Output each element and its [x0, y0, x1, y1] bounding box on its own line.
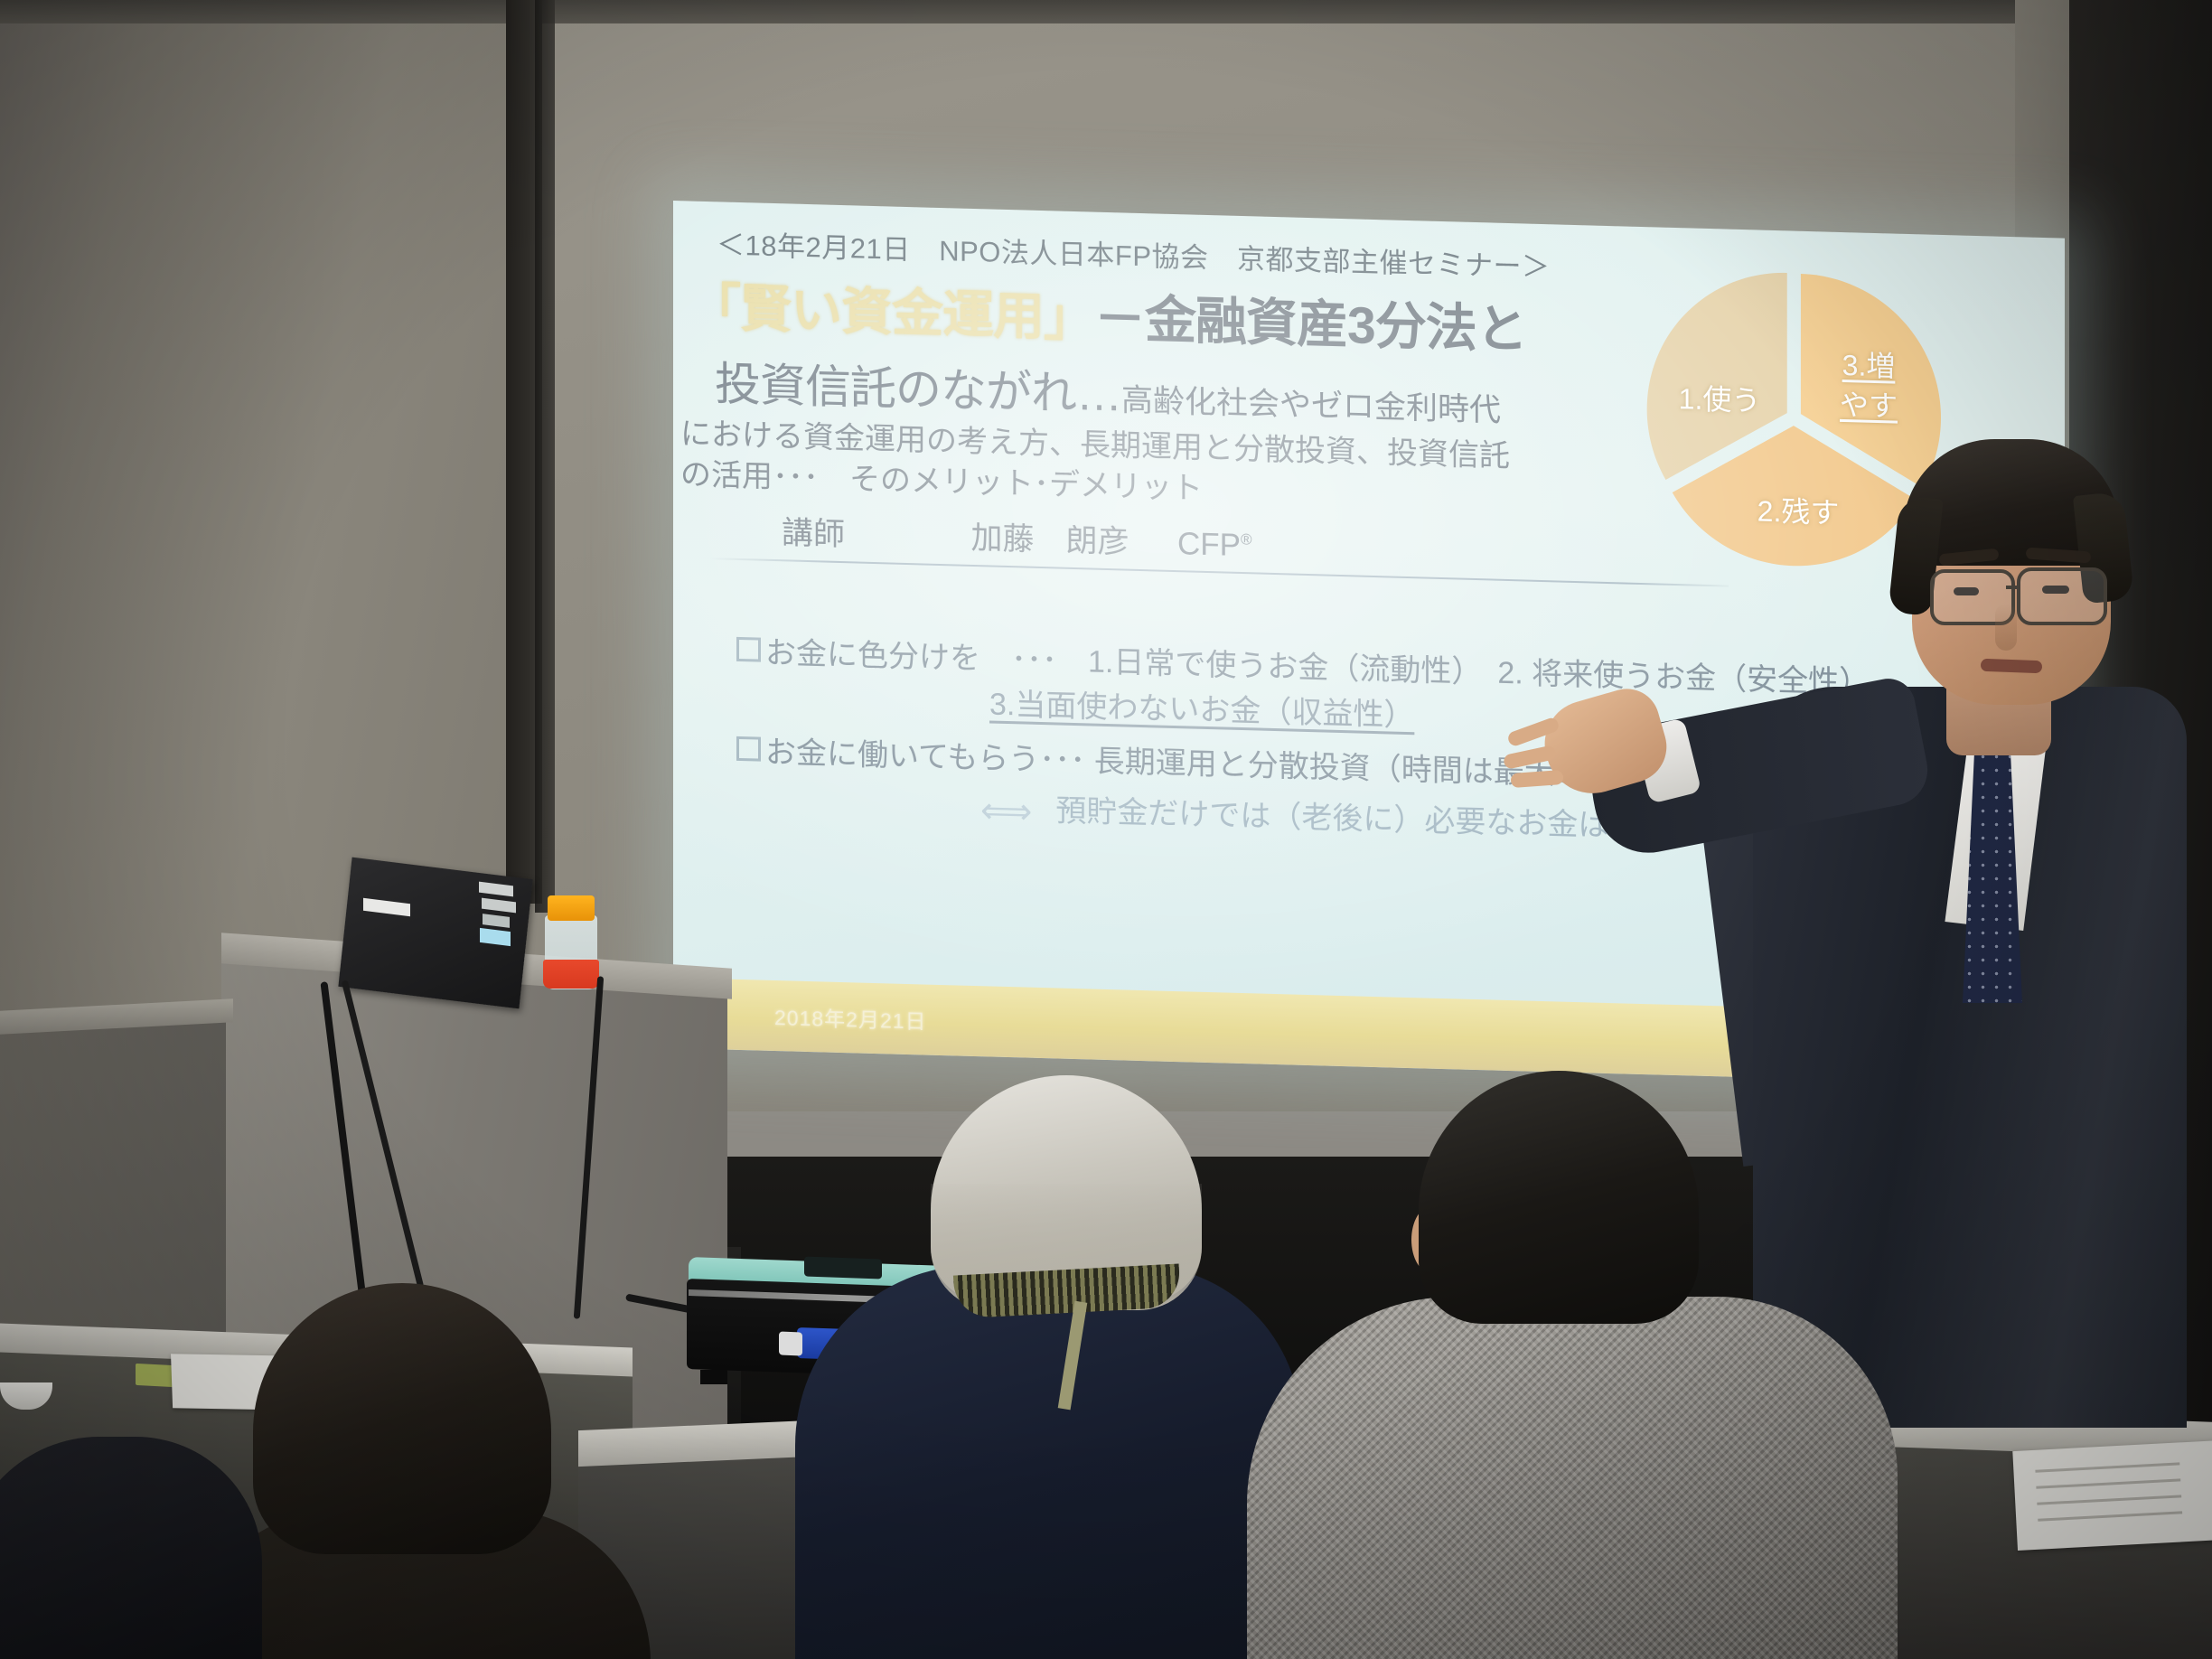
ceiling-band	[0, 0, 2212, 23]
slide-title-quoted: 「賢い資金運用」	[689, 278, 1094, 347]
checkbox-bullet-icon-2	[736, 736, 761, 762]
lecturer-label: 講師	[782, 515, 845, 552]
slide-footer-date: 2018年2月21日	[774, 1000, 927, 1036]
projector-foot	[700, 1370, 727, 1384]
handout-paper-right	[2012, 1440, 2212, 1551]
checkbox-bullet-icon	[736, 637, 761, 662]
audience-3-head	[253, 1283, 551, 1554]
lecturer-name: 加藤 朗彦	[970, 520, 1129, 560]
wall-seam-dark-inner	[535, 0, 555, 913]
audience-1-body	[795, 1265, 1301, 1659]
bottle-label	[543, 960, 599, 989]
glasses-bridge-icon	[2006, 586, 2020, 589]
seminar-room-photo: ＜18年2月21日 NPO法人日本FP協会 京都支部主催セミナー＞ 「賢い資金運…	[0, 0, 2212, 1659]
presenter-mouth	[1981, 659, 2042, 673]
registered-mark-icon: ®	[1241, 530, 1252, 548]
audience-2-jacket	[1247, 1297, 1898, 1659]
presenter-nose	[1995, 604, 2017, 651]
bottle-cap	[548, 895, 595, 921]
glasses-lens-right-icon	[2017, 567, 2107, 625]
audience-2-head	[1419, 1071, 1699, 1324]
double-arrow-icon: ⟺	[980, 790, 1032, 833]
audience-member-tweed	[1247, 1071, 1898, 1659]
pie-label-grow-line1: 3.増	[1822, 349, 1916, 382]
slide-lecturer-line: 講師 加藤 朗彦 CFP®	[782, 507, 1252, 566]
slide-title-rest: －金融資産3分法と	[1094, 290, 1527, 360]
lecturer-cert: CFP	[1177, 526, 1241, 563]
audience-member-grey-hair	[795, 1075, 1301, 1659]
